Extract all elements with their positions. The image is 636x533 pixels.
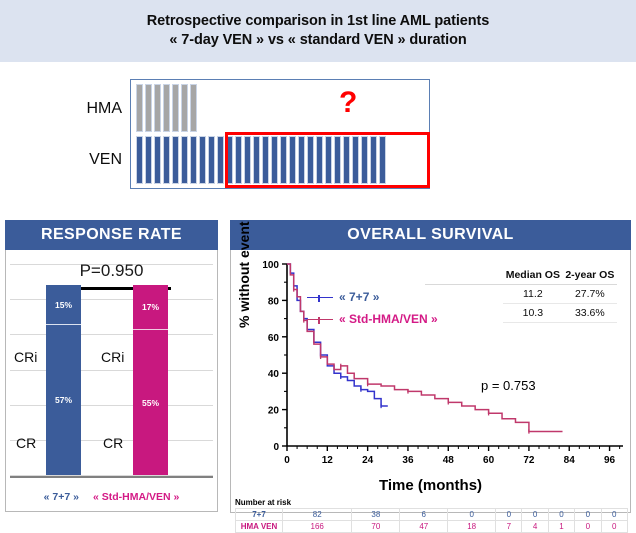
bar-value-cri-magenta: 17% bbox=[142, 302, 159, 312]
number-at-risk-cell: 0 bbox=[496, 509, 522, 521]
title-banner: Retrospective comparison in 1st line AML… bbox=[0, 0, 636, 62]
number-at-risk-cell: 4 bbox=[522, 521, 548, 533]
title-line-2: « 7-day VEN » vs « standard VEN » durati… bbox=[169, 31, 466, 50]
svg-text:24: 24 bbox=[362, 455, 374, 466]
ven-day-bar bbox=[145, 136, 152, 184]
number-at-risk-row-label: HMA VEN bbox=[236, 521, 283, 533]
number-at-risk-cell: 0 bbox=[448, 509, 496, 521]
hma-day-bar bbox=[163, 84, 170, 132]
bar-value-cr-blue: 57% bbox=[55, 395, 72, 405]
ven-day-bar bbox=[208, 136, 215, 184]
legend-line-pink-icon bbox=[307, 319, 333, 320]
response-bar-seven-plus-seven: 15% 57% bbox=[46, 285, 81, 475]
svg-text:0: 0 bbox=[284, 455, 290, 466]
ven-day-bar bbox=[181, 136, 188, 184]
number-at-risk-cell: 18 bbox=[448, 521, 496, 533]
ven-day-bar bbox=[154, 136, 161, 184]
hma-day-bar bbox=[181, 84, 188, 132]
response-bar-std-hma-ven: 17% 55% bbox=[133, 285, 168, 475]
table-cell-two-year-os-1: 27.7% bbox=[563, 285, 617, 304]
table-row: 10.3 33.6% bbox=[425, 304, 617, 323]
table-header-row: Median OS 2-year OS bbox=[425, 266, 617, 285]
table-header-blank bbox=[425, 266, 503, 285]
ven-day-bar bbox=[217, 136, 224, 184]
title-line-1: Retrospective comparison in 1st line AML… bbox=[147, 12, 489, 31]
bar-segment-cr-magenta: 55% bbox=[133, 330, 168, 475]
hma-bar-row bbox=[136, 84, 197, 132]
response-baseline-axis bbox=[10, 476, 213, 478]
number-at-risk-block: Number at risk 7+782386000000HMA VEN1667… bbox=[235, 498, 628, 533]
category-label-cr-blue: CR bbox=[16, 435, 36, 451]
svg-text:96: 96 bbox=[604, 455, 616, 466]
number-at-risk-cell: 0 bbox=[601, 521, 627, 533]
number-at-risk-cell: 70 bbox=[352, 521, 400, 533]
schema-label-hma: HMA bbox=[62, 100, 122, 118]
arm-label-std-hma-ven: « Std-HMA/VEN » bbox=[93, 491, 179, 503]
number-at-risk-row: 7+782386000000 bbox=[236, 509, 628, 521]
svg-text:12: 12 bbox=[322, 455, 334, 466]
number-at-risk-row-label: 7+7 bbox=[236, 509, 283, 521]
table-header-median-os: Median OS bbox=[503, 266, 563, 285]
svg-text:84: 84 bbox=[564, 455, 576, 466]
overall-survival-chart: % without event 020406080100012243648607… bbox=[230, 250, 631, 513]
hma-day-bar bbox=[136, 84, 143, 132]
response-pvalue: P=0.950 bbox=[6, 261, 217, 281]
svg-text:36: 36 bbox=[402, 455, 414, 466]
ven-day-bar bbox=[163, 136, 170, 184]
survival-legend: « 7+7 » « Std-HMA/VEN » bbox=[307, 286, 438, 330]
schema-label-ven: VEN bbox=[62, 151, 122, 169]
response-rate-panel: RESPONSE RATE P=0.950 CRi CR CRi CR 15% … bbox=[5, 220, 218, 512]
table-cell-two-year-os-2: 33.6% bbox=[563, 304, 617, 323]
category-label-cri-blue: CRi bbox=[14, 349, 37, 365]
survival-summary-table: Median OS 2-year OS 11.2 27.7% 10.3 33.6… bbox=[425, 266, 617, 323]
number-at-risk-cell: 0 bbox=[522, 509, 548, 521]
bar-value-cr-magenta: 55% bbox=[142, 398, 159, 408]
ven-day-bar bbox=[136, 136, 143, 184]
table-header-two-year-os: 2-year OS bbox=[563, 266, 617, 285]
survival-pvalue: p = 0.753 bbox=[481, 378, 536, 393]
extended-ven-highlight-box bbox=[225, 132, 430, 188]
number-at-risk-cell: 0 bbox=[575, 521, 601, 533]
svg-text:60: 60 bbox=[483, 455, 495, 466]
svg-text:72: 72 bbox=[523, 455, 535, 466]
legend-label-seven-plus-seven: « 7+7 » bbox=[339, 290, 379, 304]
table-cell-arm-2 bbox=[425, 304, 503, 323]
response-arm-labels: « 7+7 » « Std-HMA/VEN » bbox=[6, 491, 217, 503]
svg-text:40: 40 bbox=[268, 369, 280, 380]
hma-day-bar bbox=[190, 84, 197, 132]
number-at-risk-cell: 1 bbox=[548, 521, 574, 533]
hma-day-bar bbox=[172, 84, 179, 132]
table-row: 11.2 27.7% bbox=[425, 285, 617, 304]
svg-text:48: 48 bbox=[443, 455, 455, 466]
arm-label-seven-plus-seven: « 7+7 » bbox=[44, 491, 79, 503]
table-cell-median-os-2: 10.3 bbox=[503, 304, 563, 323]
number-at-risk-cell: 38 bbox=[352, 509, 400, 521]
survival-x-axis-label: Time (months) bbox=[231, 477, 630, 494]
legend-item-seven-plus-seven: « 7+7 » bbox=[307, 286, 438, 308]
legend-label-std-hma-ven: « Std-HMA/VEN » bbox=[339, 312, 438, 326]
bar-segment-cr-blue: 57% bbox=[46, 325, 81, 475]
number-at-risk-cell: 0 bbox=[575, 509, 601, 521]
ven-day-bar bbox=[172, 136, 179, 184]
number-at-risk-cell: 7 bbox=[496, 521, 522, 533]
number-at-risk-cell: 47 bbox=[400, 521, 448, 533]
category-label-cri-magenta: CRi bbox=[101, 349, 124, 365]
svg-text:100: 100 bbox=[262, 260, 279, 271]
number-at-risk-title: Number at risk bbox=[235, 498, 628, 507]
bar-segment-cri-magenta: 17% bbox=[133, 285, 168, 330]
number-at-risk-cell: 0 bbox=[548, 509, 574, 521]
response-rate-chart: P=0.950 CRi CR CRi CR 15% 57% 17% 55% « … bbox=[5, 250, 218, 512]
treatment-schema: HMA VEN ? bbox=[0, 62, 636, 210]
number-at-risk-row: HMA VEN16670471874100 bbox=[236, 521, 628, 533]
legend-line-blue-icon bbox=[307, 297, 333, 298]
hma-day-bar bbox=[154, 84, 161, 132]
number-at-risk-cell: 6 bbox=[400, 509, 448, 521]
bar-value-cri-blue: 15% bbox=[55, 300, 72, 310]
number-at-risk-cell: 166 bbox=[283, 521, 352, 533]
number-at-risk-cell: 0 bbox=[601, 509, 627, 521]
ven-day-bar bbox=[199, 136, 206, 184]
question-mark-annotation: ? bbox=[339, 88, 357, 118]
table-cell-arm-1 bbox=[425, 285, 503, 304]
svg-text:80: 80 bbox=[268, 296, 280, 307]
ven-day-bar bbox=[190, 136, 197, 184]
category-label-cr-magenta: CR bbox=[103, 435, 123, 451]
svg-text:60: 60 bbox=[268, 333, 280, 344]
overall-survival-panel: OVERALL SURVIVAL % without event 0204060… bbox=[230, 220, 631, 513]
number-at-risk-cell: 82 bbox=[283, 509, 352, 521]
overall-survival-header: OVERALL SURVIVAL bbox=[230, 220, 631, 250]
svg-text:0: 0 bbox=[273, 442, 279, 453]
legend-item-std-hma-ven: « Std-HMA/VEN » bbox=[307, 308, 438, 330]
svg-text:20: 20 bbox=[268, 406, 280, 417]
hma-day-bar bbox=[145, 84, 152, 132]
response-rate-header: RESPONSE RATE bbox=[5, 220, 218, 250]
table-cell-median-os-1: 11.2 bbox=[503, 285, 563, 304]
bar-segment-cri-blue: 15% bbox=[46, 285, 81, 325]
